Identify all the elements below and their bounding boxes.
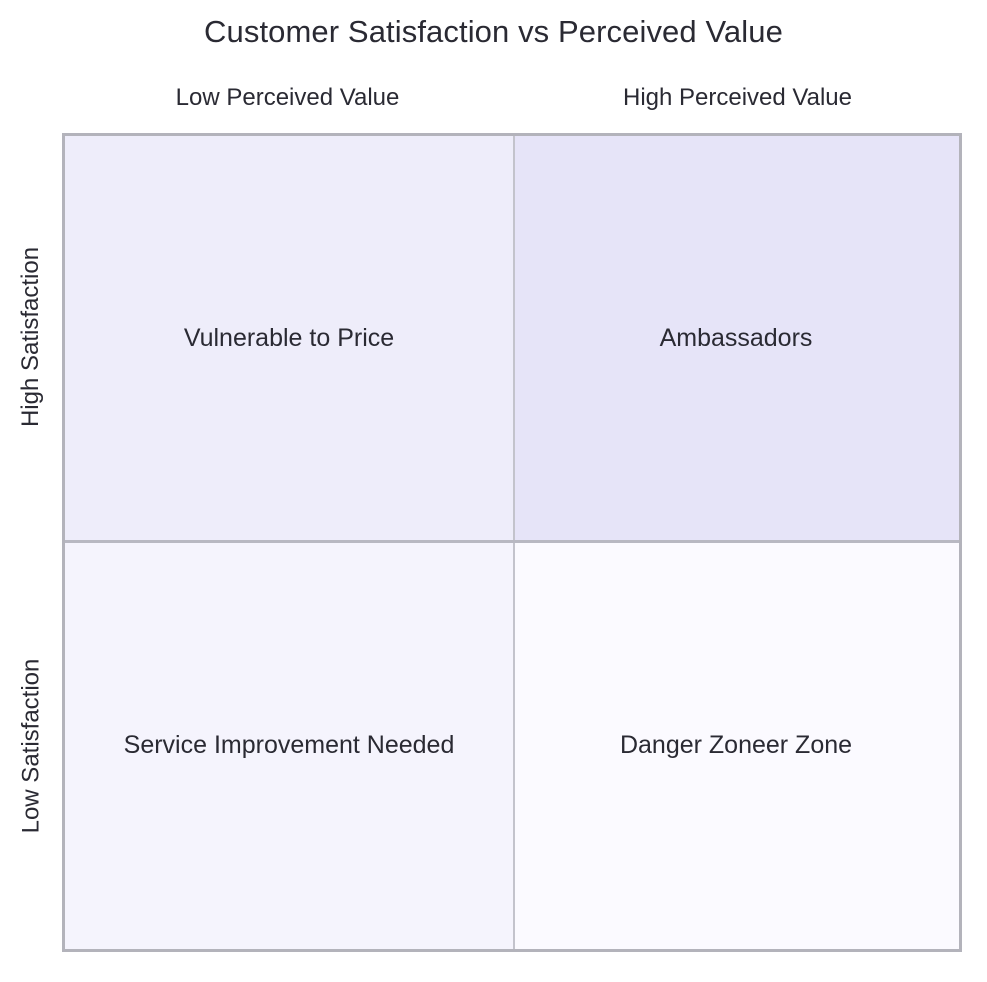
quadrant-service-improvement-needed[interactable]: Service Improvement Needed <box>65 540 513 949</box>
row-header-high-satisfaction-label: High Satisfaction <box>16 246 46 426</box>
row-header-low-satisfaction-label: Low Satisfaction <box>16 659 46 834</box>
matrix-grid: Vulnerable to Price Ambassadors Service … <box>62 133 962 952</box>
quadrant-label: Danger Zoneer Zone <box>620 728 852 762</box>
quadrant-label: Ambassadors <box>660 321 813 355</box>
quadrant-label: Service Improvement Needed <box>124 728 455 762</box>
row-header-low-satisfaction: Low Satisfaction <box>0 540 62 952</box>
quadrant-vulnerable-to-price[interactable]: Vulnerable to Price <box>65 136 513 540</box>
quadrant-ambassadors[interactable]: Ambassadors <box>513 136 959 540</box>
divider-horizontal <box>65 540 959 543</box>
quadrant-danger-zoneer-zone[interactable]: Danger Zoneer Zone <box>513 540 959 949</box>
column-header-high-perceived-value: High Perceived Value <box>513 82 962 114</box>
quadrant-matrix-chart: Customer Satisfaction vs Perceived Value… <box>0 0 987 982</box>
quadrant-label: Vulnerable to Price <box>184 321 394 355</box>
page-title: Customer Satisfaction vs Perceived Value <box>0 12 987 52</box>
row-header-high-satisfaction: High Satisfaction <box>0 133 62 540</box>
column-header-low-perceived-value: Low Perceived Value <box>62 82 513 114</box>
